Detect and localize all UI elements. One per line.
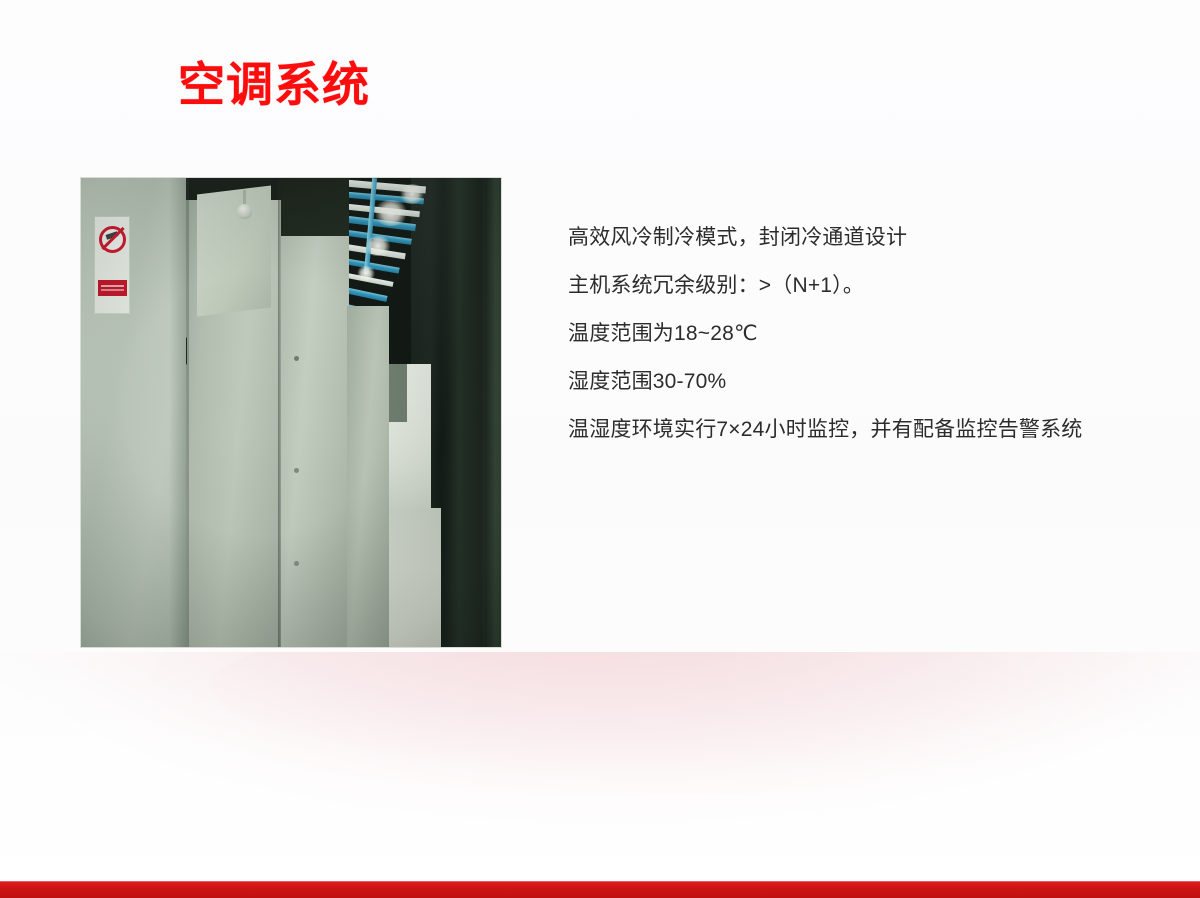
content-line-3: 温度范围为18~28℃ [568, 318, 1140, 350]
bottom-accent-bar [0, 881, 1200, 898]
content-line-4: 湿度范围30-70% [568, 366, 1140, 398]
content-line-5: 温湿度环境实行7×24小时监控，并有配备监控告警系统 [568, 414, 1140, 446]
page-title: 空调系统 [178, 58, 370, 112]
swoosh-arc-mid [60, 652, 1200, 794]
content-line-2: 主机系统冗余级别：>（N+1）。 [568, 270, 1140, 302]
datacenter-photo [80, 177, 502, 648]
content-line-1: 高效风冷制冷模式，封闭冷通道设计 [568, 222, 1140, 254]
photo-vignette [81, 178, 501, 647]
slide-canvas: 空调系统 [0, 0, 1200, 898]
swoosh-arc-gray [150, 652, 1150, 772]
content-text-block: 高效风冷制冷模式，封闭冷通道设计 主机系统冗余级别：>（N+1）。 温度范围为1… [568, 222, 1140, 446]
swoosh-arc-inner [210, 652, 1030, 762]
swoosh-arc-outer [0, 652, 1200, 832]
decorative-swoosh [0, 652, 1200, 882]
photo-canvas [81, 178, 501, 647]
